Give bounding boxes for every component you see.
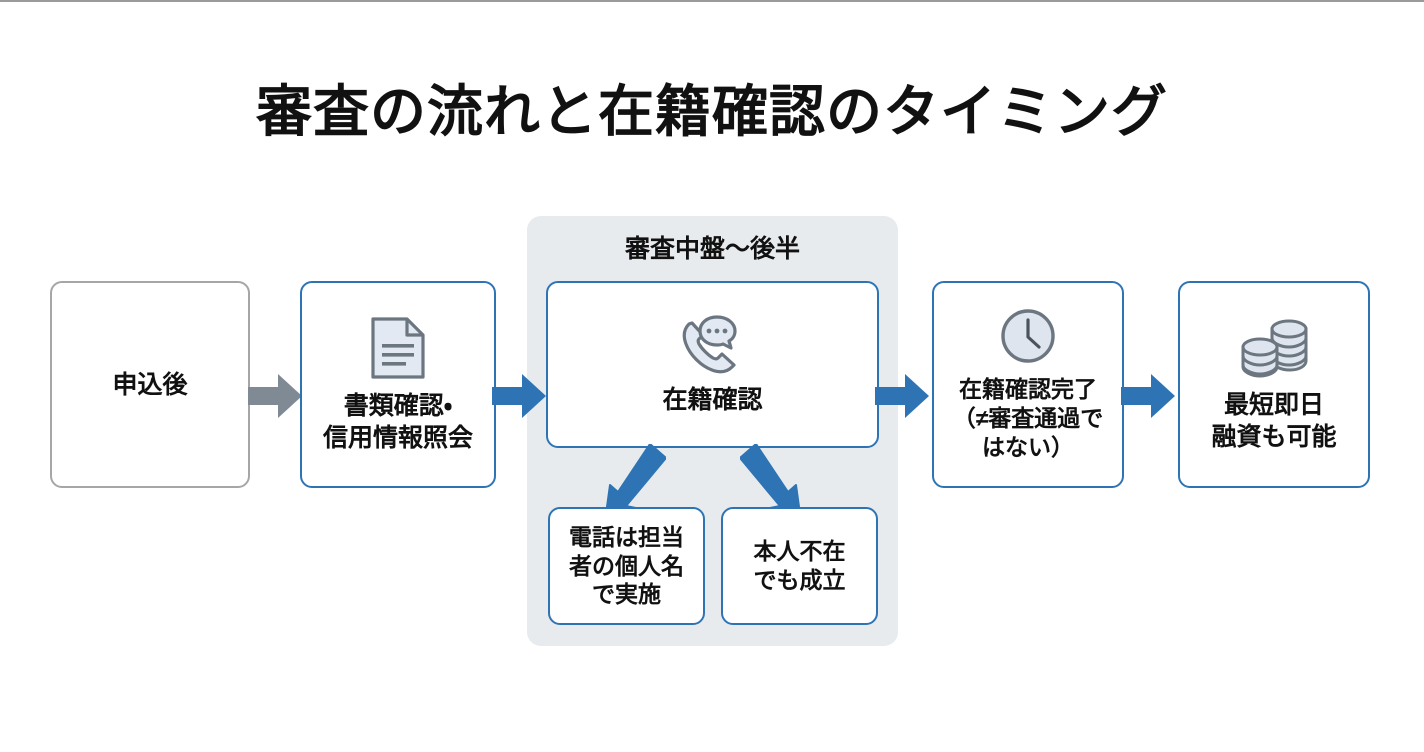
diagram-canvas: 審査の流れと在籍確認のタイミング 審査中盤〜後半 申込後 書類確認・ 信用情報照… [0,0,1424,752]
document-icon [369,316,427,380]
arrow-apply-to-documents [248,374,302,418]
node-phone-personal-name-label: 電話は担当 者の個人名 で実施 [569,523,684,610]
top-divider [0,0,1424,2]
node-phone-personal-name[interactable]: 電話は担当 者の個人名 で実施 [548,507,705,625]
node-check-complete-label: 在籍確認完了 （≠審査通過で はない） [953,375,1104,462]
node-same-day-funding[interactable]: 最短即日 融資も可能 [1178,281,1370,488]
node-document-check-label: 書類確認・ 信用情報照会 [323,390,473,454]
node-absent-ok[interactable]: 本人不在 でも成立 [721,507,878,625]
page-title: 審査の流れと在籍確認のタイミング [0,80,1424,144]
node-same-day-funding-label: 最短即日 融資も可能 [1211,389,1336,453]
node-apply-label: 申込後 [112,369,187,401]
group-label: 審査中盤〜後半 [527,229,898,265]
phone-chat-icon [677,314,749,374]
clock-icon [999,307,1057,365]
arrow-employment-check-to-complete [875,374,929,418]
node-apply[interactable]: 申込後 [50,281,250,488]
arrow-to-phone-personal-name [592,444,666,514]
arrow-complete-to-funding [1121,374,1175,418]
node-employment-check[interactable]: 在籍確認 [546,281,879,448]
node-check-complete[interactable]: 在籍確認完了 （≠審査通過で はない） [932,281,1124,488]
arrow-to-absent-ok [740,444,814,514]
node-document-check[interactable]: 書類確認・ 信用情報照会 [300,281,496,488]
arrow-documents-to-employment-check [492,374,546,418]
node-employment-check-label: 在籍確認 [662,384,762,416]
coins-icon [1240,317,1308,379]
node-absent-ok-label: 本人不在 でも成立 [754,537,846,595]
